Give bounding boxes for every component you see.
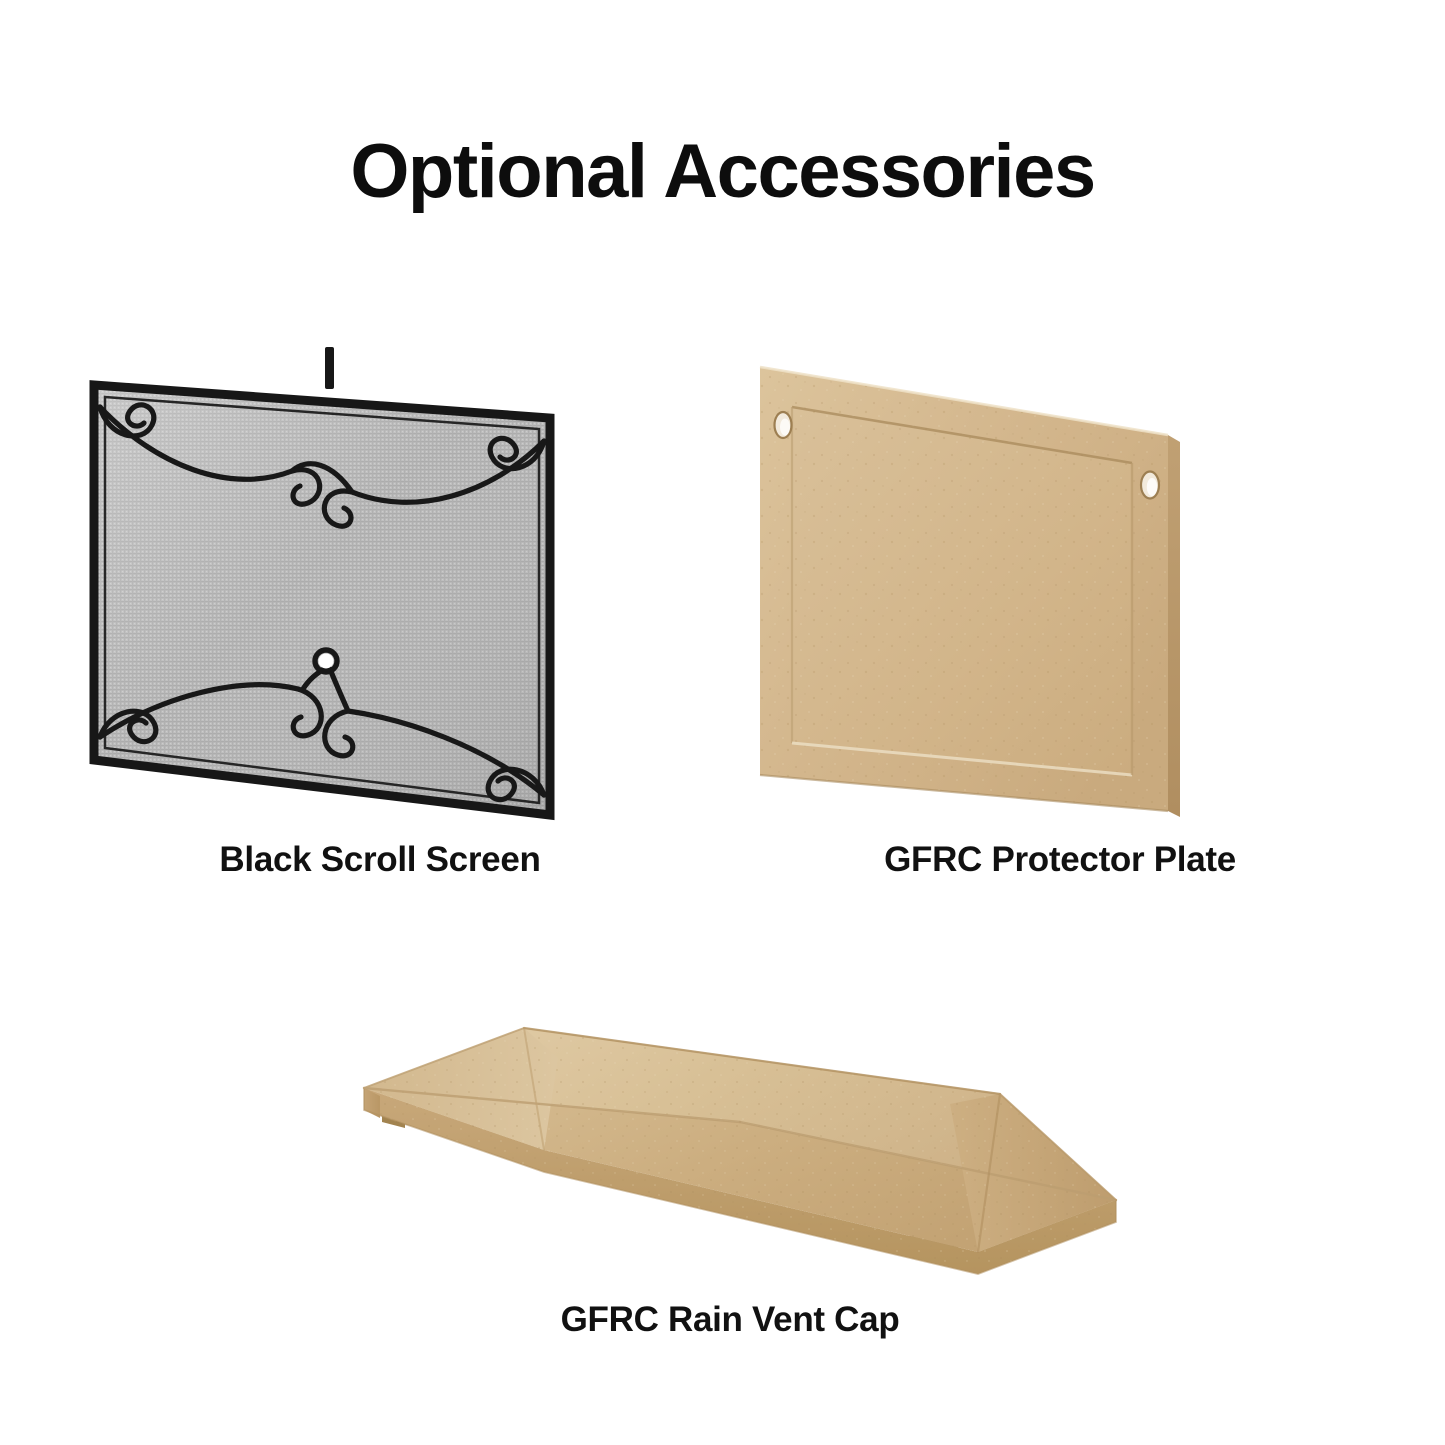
product-image-gfrc-protector-plate xyxy=(740,345,1380,835)
caption-gfrc-rain-vent-cap: GFRC Rain Vent Cap xyxy=(310,1300,1150,1340)
accessories-page: Optional Accessories xyxy=(0,0,1445,1445)
product-image-black-scroll-screen xyxy=(60,345,700,835)
plate-mounting-hole-left xyxy=(775,412,792,438)
plate-side-edge xyxy=(1168,435,1180,817)
gfrc-rain-vent-cap-illustration xyxy=(310,1000,1150,1290)
page-title: Optional Accessories xyxy=(0,134,1445,210)
product-gfrc-protector-plate[interactable]: GFRC Protector Plate xyxy=(740,345,1380,905)
product-black-scroll-screen[interactable]: Black Scroll Screen xyxy=(60,345,700,905)
gfrc-protector-plate-illustration xyxy=(740,345,1380,835)
caption-black-scroll-screen: Black Scroll Screen xyxy=(60,840,700,880)
product-gfrc-rain-vent-cap[interactable]: GFRC Rain Vent Cap xyxy=(310,1000,1150,1400)
screen-mesh-panel xyxy=(94,385,550,815)
plate-mounting-hole-right xyxy=(1141,472,1159,499)
screen-top-rod xyxy=(325,347,334,389)
black-scroll-screen-illustration xyxy=(60,345,700,835)
product-image-gfrc-rain-vent-cap xyxy=(310,1000,1150,1290)
caption-gfrc-protector-plate: GFRC Protector Plate xyxy=(740,840,1380,880)
plate-recessed-panel xyxy=(792,407,1132,775)
